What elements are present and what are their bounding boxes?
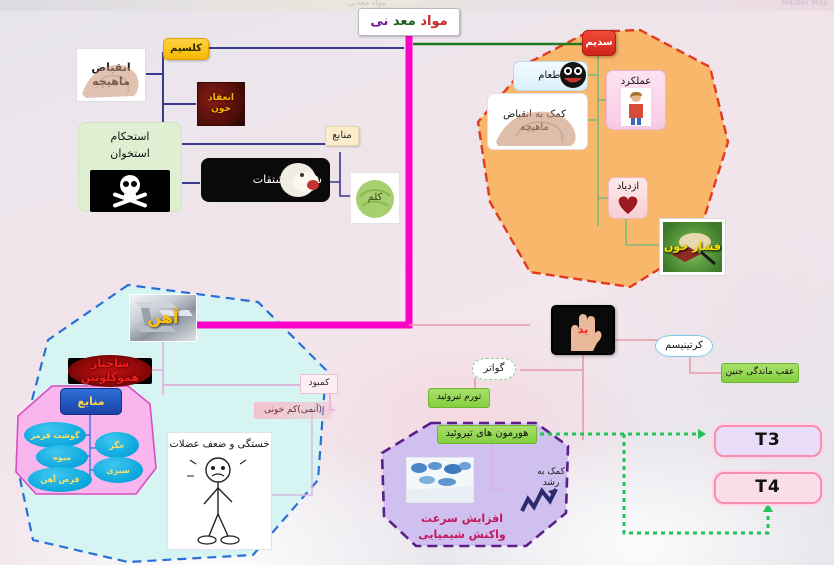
person-image-icon [621,88,651,126]
node-help-growth-label: کمک به رشد [530,467,572,490]
node-iron-tablet-label: قرص آهن [40,475,79,484]
node-vegetables-label: سبزی [106,466,129,475]
node-iron-sources-label: منابع [77,395,104,409]
node-fatigue-label: خستگی و ضعف عضلات [169,439,269,452]
node-red-meat-label: گوشت قرمز [31,431,80,440]
node-sodium[interactable]: سدیم [582,30,616,56]
node-t4-label: T4 [755,477,780,498]
node-increase-label: ازدیاد [617,181,639,194]
node-fetal-retardation[interactable]: عقب ماندگی جنین [721,363,799,383]
skull-crossbones-icon [90,170,170,212]
tired-person-sketch-icon [182,452,254,546]
node-calcium[interactable]: کلسیم [163,38,209,60]
node-goiter[interactable]: گواتر [472,358,516,380]
node-iodine-label: ید [578,323,588,337]
node-help-growth[interactable]: کمک به رشد [530,470,572,486]
root-node-label: مواد معد نی [370,14,447,30]
node-iron-deficiency-label: کمبود [309,378,330,389]
node-bone-strength-line1: استحکام [111,130,150,144]
node-calcium-label: کلسیم [170,43,202,56]
node-reaction-line2: واکنش شیمیایی [418,527,505,543]
node-iron-label: آهن [148,308,179,328]
node-t3[interactable]: T3 [714,425,822,457]
lion-image-icon [272,160,328,200]
node-blood-pressure-label: فشار خون [664,240,721,254]
root-node-minerals[interactable]: مواد معد نی [358,8,460,36]
node-thyroid-hormones[interactable]: هورمون های تیروئید [437,425,537,444]
clouds-image-icon [407,458,473,502]
node-hemoglobin-structure[interactable]: ساختار هموگلوبین [68,358,152,384]
heart-organ-icon [616,194,640,216]
node-blood-clotting-line1: انعقاد [208,93,234,104]
node-t4[interactable]: T4 [714,472,822,504]
smiley-face-icon [558,60,588,90]
node-calcium-sources-label: منابع [332,130,352,143]
node-thyroid-swelling-label: تورم تیروئید [437,392,481,403]
node-anemia-label: (آنمی)کم خونی [264,405,322,416]
node-hemoglobin-label: ساختار هموگلوبین [68,355,152,387]
node-fruit-label: میوه [53,453,71,462]
node-sodium-label: سدیم [585,37,612,50]
node-thyroid-hormones-label: هورمون های تیروئید [446,428,529,441]
node-anemia[interactable]: (آنمی)کم خونی [254,402,332,419]
node-iron-tablet[interactable]: قرص آهن [28,467,92,492]
node-blood-clotting[interactable]: انعقاد خون [197,82,245,126]
node-goiter-label: گواتر [484,363,505,376]
mindmap-canvas: مواد معدنی Master Map [0,0,834,565]
node-t3-label: T3 [755,430,780,451]
node-iron-sources[interactable]: منابع [60,388,122,415]
node-vegetables[interactable]: سبزی [93,457,143,483]
node-iron-deficiency[interactable]: کمبود [300,374,338,394]
node-fetal-retardation-label: عقب ماندگی جنین [726,367,795,378]
node-cabbage-label: کلم [368,192,383,205]
node-reaction-line1: افزایش سرعت [421,511,503,527]
node-bone-strength-line2: استخوان [110,147,150,161]
node-cretinism-label: کرتینیسم [665,340,703,353]
node-red-meat[interactable]: گوشت قرمز [24,422,86,448]
node-increase-reaction-speed[interactable]: افزایش سرعت واکنش شیمیایی [396,508,528,546]
node-fruit[interactable]: میوه [36,445,88,469]
node-blood-clotting-line2: خون [211,104,231,115]
node-liver[interactable]: جگر [95,432,139,458]
node-calcium-sources[interactable]: منابع [325,126,359,146]
node-thyroid-swelling[interactable]: تورم تیروئید [428,388,490,408]
bicep-image-icon-2 [490,96,586,148]
node-liver-label: جگر [109,441,124,450]
node-cretinism[interactable]: کرتینیسم [655,335,713,357]
bicep-image-icon [76,48,146,102]
